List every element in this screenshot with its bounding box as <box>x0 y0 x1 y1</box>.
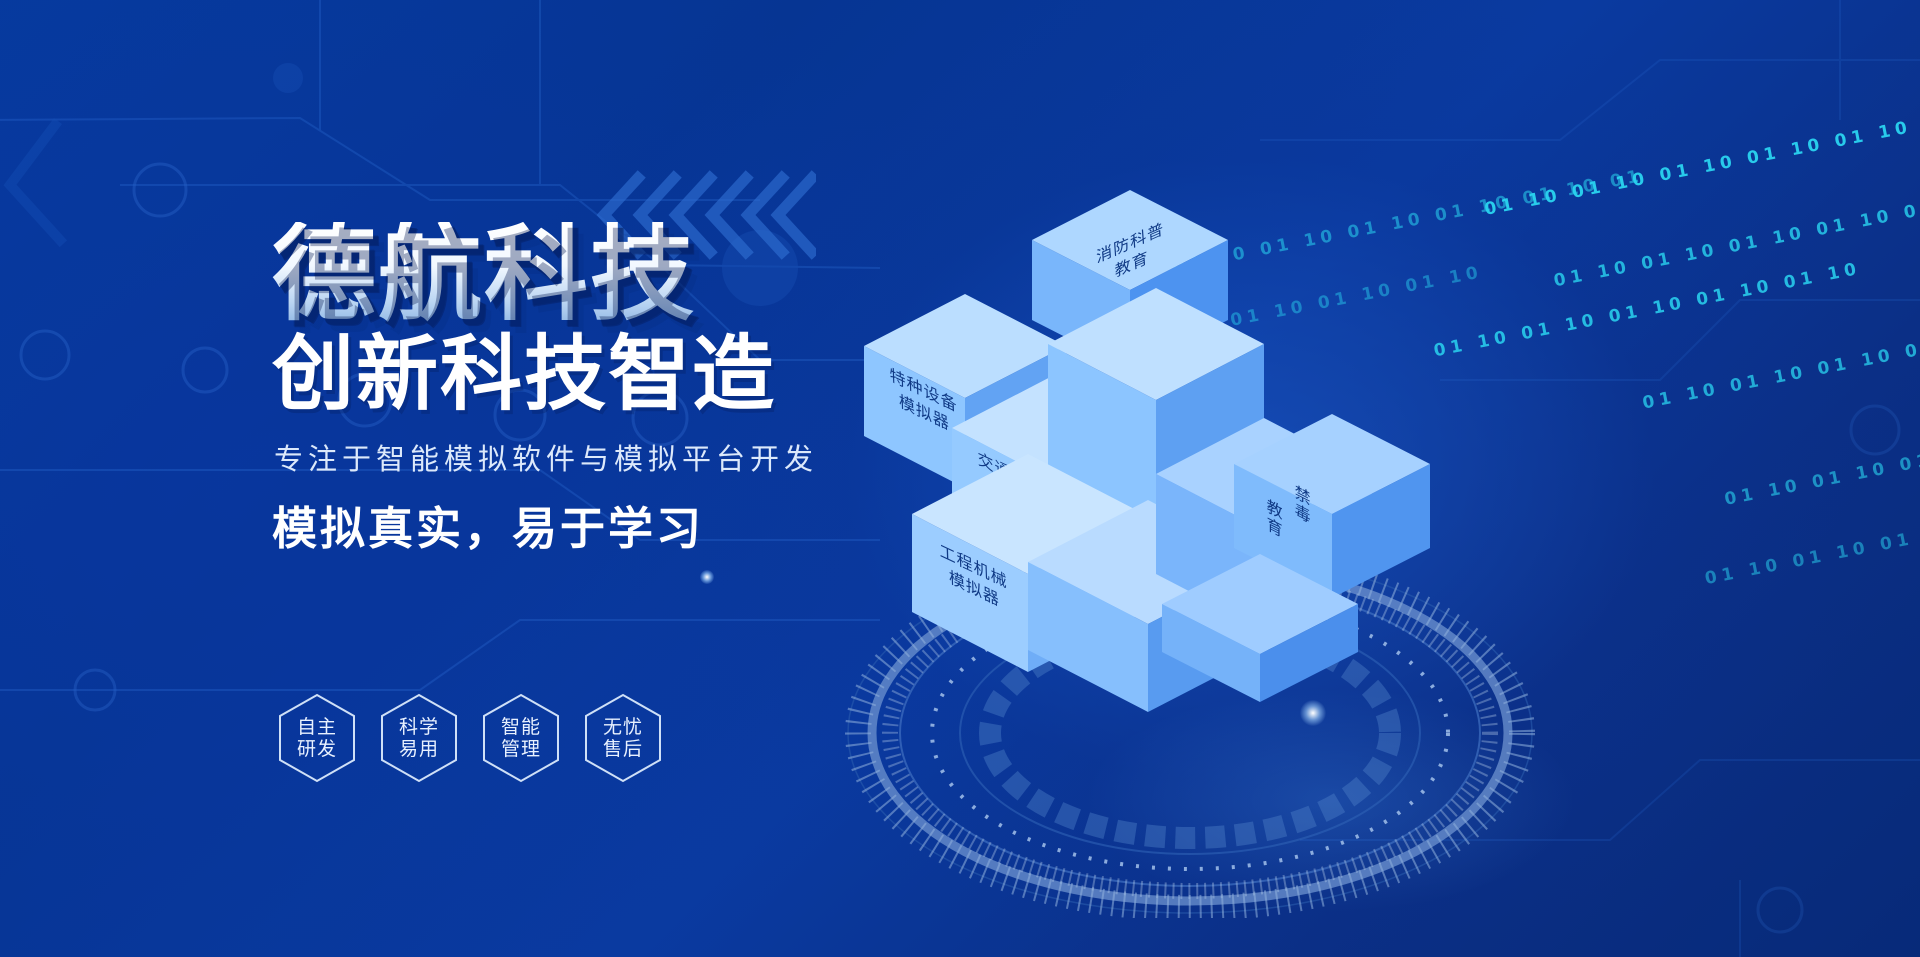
feature-badge[interactable]: 自主 研发 <box>276 692 358 784</box>
feature-badge-text: 智能 管理 <box>495 716 547 761</box>
isometric-illustration: 消防科普 教育 特种设备 模拟器 交通安全 教育 <box>830 180 1630 820</box>
feature-badge-line2: 售后 <box>603 738 643 760</box>
brand-title: 德航科技 <box>272 222 892 326</box>
feature-badge-text: 自主 研发 <box>291 716 343 761</box>
feature-badge[interactable]: 科学 易用 <box>378 692 460 784</box>
banner-root: 01 10 01 10 01 10 01 10 01 10 01 10 01 1… <box>0 0 1920 957</box>
feature-badge-line2: 研发 <box>297 738 337 760</box>
feature-badge-line2: 管理 <box>501 738 541 760</box>
feature-badge-line1: 科学 <box>399 716 439 738</box>
cube-step-right <box>1160 552 1370 732</box>
feature-badge-list: 自主 研发 科学 易用 智能 管理 <box>276 692 664 784</box>
hero-text-block: 德航科技 创新科技智造 专注于智能模拟软件与模拟平台开发 模拟真实，易于学习 <box>272 222 892 591</box>
feature-badge[interactable]: 无忧 售后 <box>582 692 664 784</box>
hero-subtitle: 专注于智能模拟软件与模拟平台开发 <box>274 436 892 478</box>
feature-badge[interactable]: 智能 管理 <box>480 692 562 784</box>
feature-badge-line2: 易用 <box>399 738 439 760</box>
binary-row: 01 10 01 10 01 10 01 <box>1641 336 1920 413</box>
feature-badge-line1: 智能 <box>501 716 541 738</box>
feature-badge-line1: 无忧 <box>603 716 643 738</box>
hero-slogan: 模拟真实，易于学习 <box>272 492 892 557</box>
feature-badge-text: 无忧 售后 <box>597 716 649 761</box>
feature-badge-line1: 自主 <box>297 716 337 738</box>
binary-row: 01 10 01 10 01 10 01 10 01 10 01 10 <box>1723 390 1920 510</box>
hero-headline: 创新科技智造 <box>272 334 892 416</box>
feature-badge-text: 科学 易用 <box>393 716 445 761</box>
binary-row: 01 10 01 10 01 10 01 10 01 10 01 10 01 <box>1703 461 1920 589</box>
